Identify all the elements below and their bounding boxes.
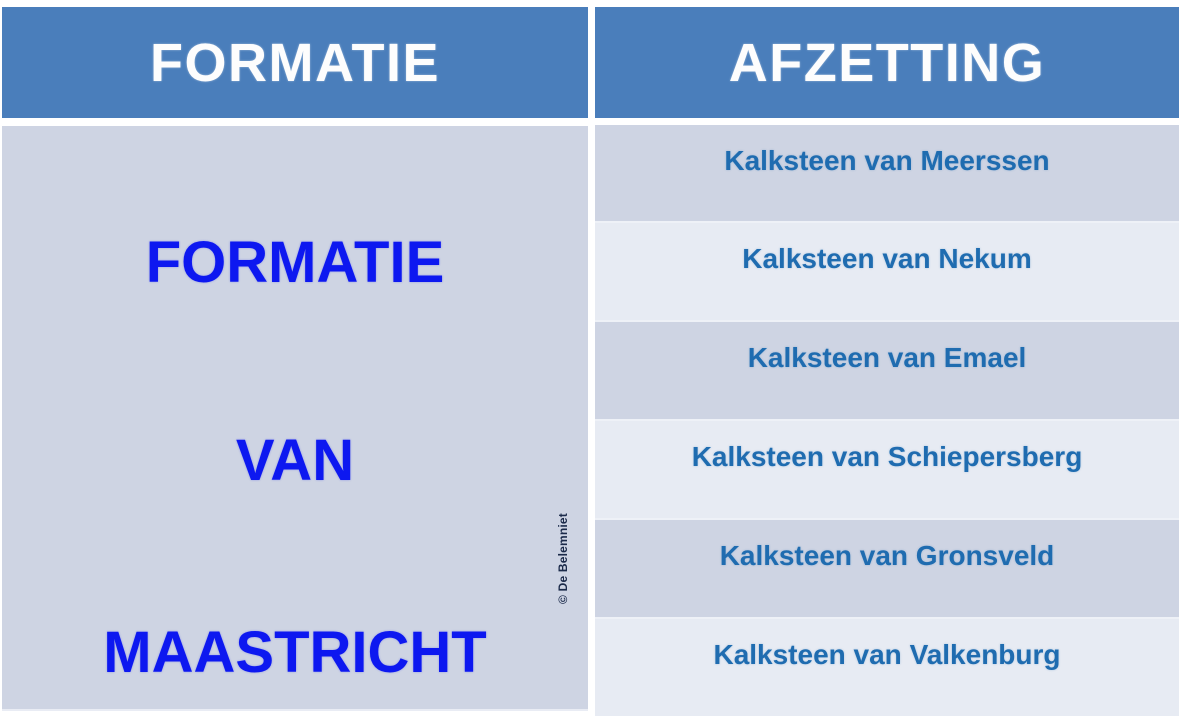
table-row[interactable]: Kalksteen van Schiepersberg: [595, 419, 1179, 518]
header-label-formatie: FORMATIE: [150, 36, 440, 90]
header-body-divider: [0, 118, 1181, 123]
table-row[interactable]: Kalksteen van Emael: [595, 320, 1179, 419]
deposit-label: Kalksteen van Nekum: [595, 245, 1179, 273]
deposit-label: Kalksteen van Schiepersberg: [595, 443, 1179, 471]
formation-line-1: FORMATIE: [2, 234, 588, 292]
deposit-label: Kalksteen van Emael: [595, 344, 1179, 372]
header-label-afzetting: AFZETTING: [729, 36, 1045, 90]
deposit-label: Kalksteen van Meerssen: [595, 147, 1179, 175]
table-row[interactable]: Kalksteen van Gronsveld: [595, 518, 1179, 617]
table-row[interactable]: Kalksteen van Nekum: [595, 221, 1179, 320]
header-cell-formatie: FORMATIE: [2, 7, 588, 118]
deposit-label: Kalksteen van Valkenburg: [595, 641, 1179, 669]
table-row[interactable]: Kalksteen van Valkenburg: [595, 617, 1179, 716]
deposit-list: Kalksteen van MeerssenKalksteen van Neku…: [595, 122, 1179, 720]
formation-deposit-table: FORMATIE AFZETTING FORMATIE VAN MAASTRIC…: [0, 0, 1181, 720]
copyright-credit: © De Belemniet: [556, 484, 572, 604]
column-divider: [588, 0, 595, 720]
frame-left-edge: [0, 0, 2, 720]
formation-cell: FORMATIE VAN MAASTRICHT: [2, 126, 588, 711]
table-row[interactable]: Kalksteen van Meerssen: [595, 122, 1179, 221]
formation-line-3: MAASTRICHT: [2, 624, 588, 682]
formation-line-2: VAN: [2, 432, 588, 490]
deposit-label: Kalksteen van Gronsveld: [595, 542, 1179, 570]
header-cell-afzetting: AFZETTING: [595, 7, 1179, 118]
